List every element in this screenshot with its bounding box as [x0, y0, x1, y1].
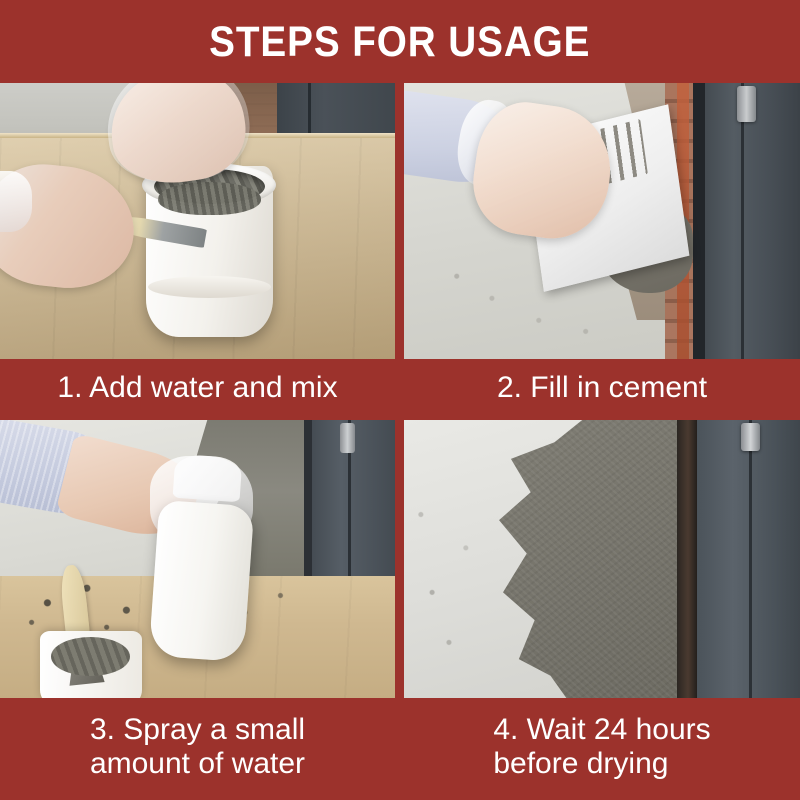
step-2-caption: 2. Fill in cement — [404, 359, 800, 420]
step-3-image — [0, 420, 395, 698]
step-4-image — [404, 420, 800, 698]
door-gap — [693, 83, 705, 359]
door-bolt — [741, 423, 761, 451]
step-4-caption-text: 4. Wait 24 hours before drying — [493, 713, 710, 784]
door-bolt — [340, 423, 356, 454]
bucket-cement — [51, 637, 130, 676]
step-1-caption-text: 1. Add water and mix — [57, 371, 337, 409]
grey-door — [705, 83, 800, 359]
door-seam — [741, 83, 744, 359]
step-3-caption: 3. Spray a small amount of water — [0, 698, 395, 800]
left-glove-cuff — [0, 171, 32, 232]
cement-paste-texture — [158, 182, 261, 215]
step-2-caption-text: 2. Fill in cement — [497, 371, 707, 409]
door-gap — [677, 420, 697, 698]
steps-for-usage-poster: STEPS FOR USAGE 1. Add water and mix — [0, 0, 800, 800]
step-1-caption: 1. Add water and mix — [0, 359, 395, 420]
door-seam — [749, 420, 752, 698]
page-title: STEPS FOR USAGE — [209, 21, 590, 64]
step-4-caption: 4. Wait 24 hours before drying — [404, 698, 800, 800]
poster-header: STEPS FOR USAGE — [0, 0, 800, 83]
step-1-image — [0, 83, 395, 359]
door-bolt — [737, 86, 757, 122]
spray-bottle — [149, 500, 254, 662]
step-2-image — [404, 83, 800, 359]
step-3-caption-text: 3. Spray a small amount of water — [90, 713, 305, 784]
